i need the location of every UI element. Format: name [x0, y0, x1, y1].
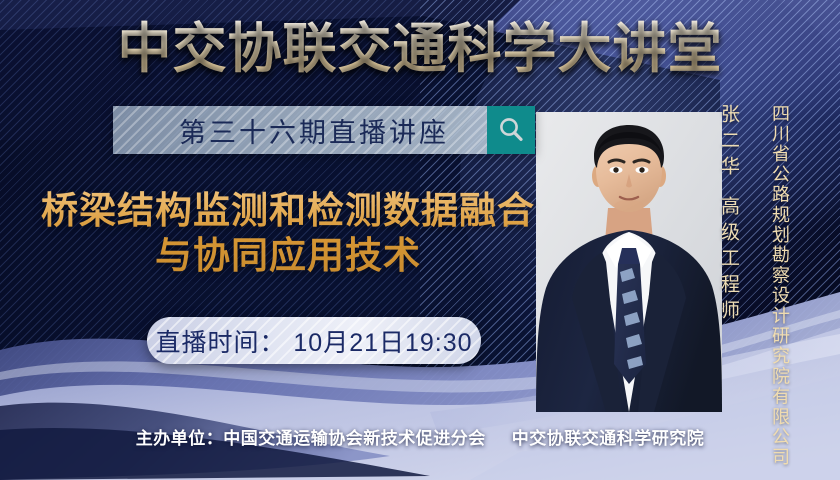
footer-label: 主办单位：	[136, 429, 224, 449]
search-icon[interactable]	[487, 106, 535, 154]
footer-organizers: 主办单位：中国交通运输协会新技术促进分会中交协联交通科学研究院	[0, 424, 840, 449]
broadcast-time-badge: 直播时间： 10月21日19:30	[147, 317, 481, 364]
webinar-poster: 中交协联交通科学大讲堂 第三十六期直播讲座 桥梁结构监测和检测数据融合 与协同应…	[0, 0, 840, 480]
speaker-name: 张二华	[716, 104, 743, 182]
broadcast-time-text: 直播时间： 10月21日19:30	[155, 323, 472, 359]
speaker-organization: 四川省公路规划勘察设计研究院有限公司	[766, 104, 792, 468]
episode-label: 第三十六期直播讲座	[113, 106, 487, 154]
lecture-topic-line1: 桥梁结构监测和检测数据融合	[28, 188, 548, 233]
episode-banner: 第三十六期直播讲座	[113, 106, 535, 154]
footer-org-2: 中交协联交通科学研究院	[512, 429, 705, 449]
lecture-topic-line2: 与协同应用技术	[28, 233, 548, 278]
lecture-topic: 桥梁结构监测和检测数据融合 与协同应用技术	[28, 188, 548, 278]
speaker-portrait	[536, 112, 722, 412]
speaker-role: 高级工程师	[716, 196, 743, 326]
footer-org-1: 中国交通运输协会新技术促进分会	[223, 429, 486, 449]
page-title: 中交协联交通科学大讲堂	[0, 18, 840, 80]
